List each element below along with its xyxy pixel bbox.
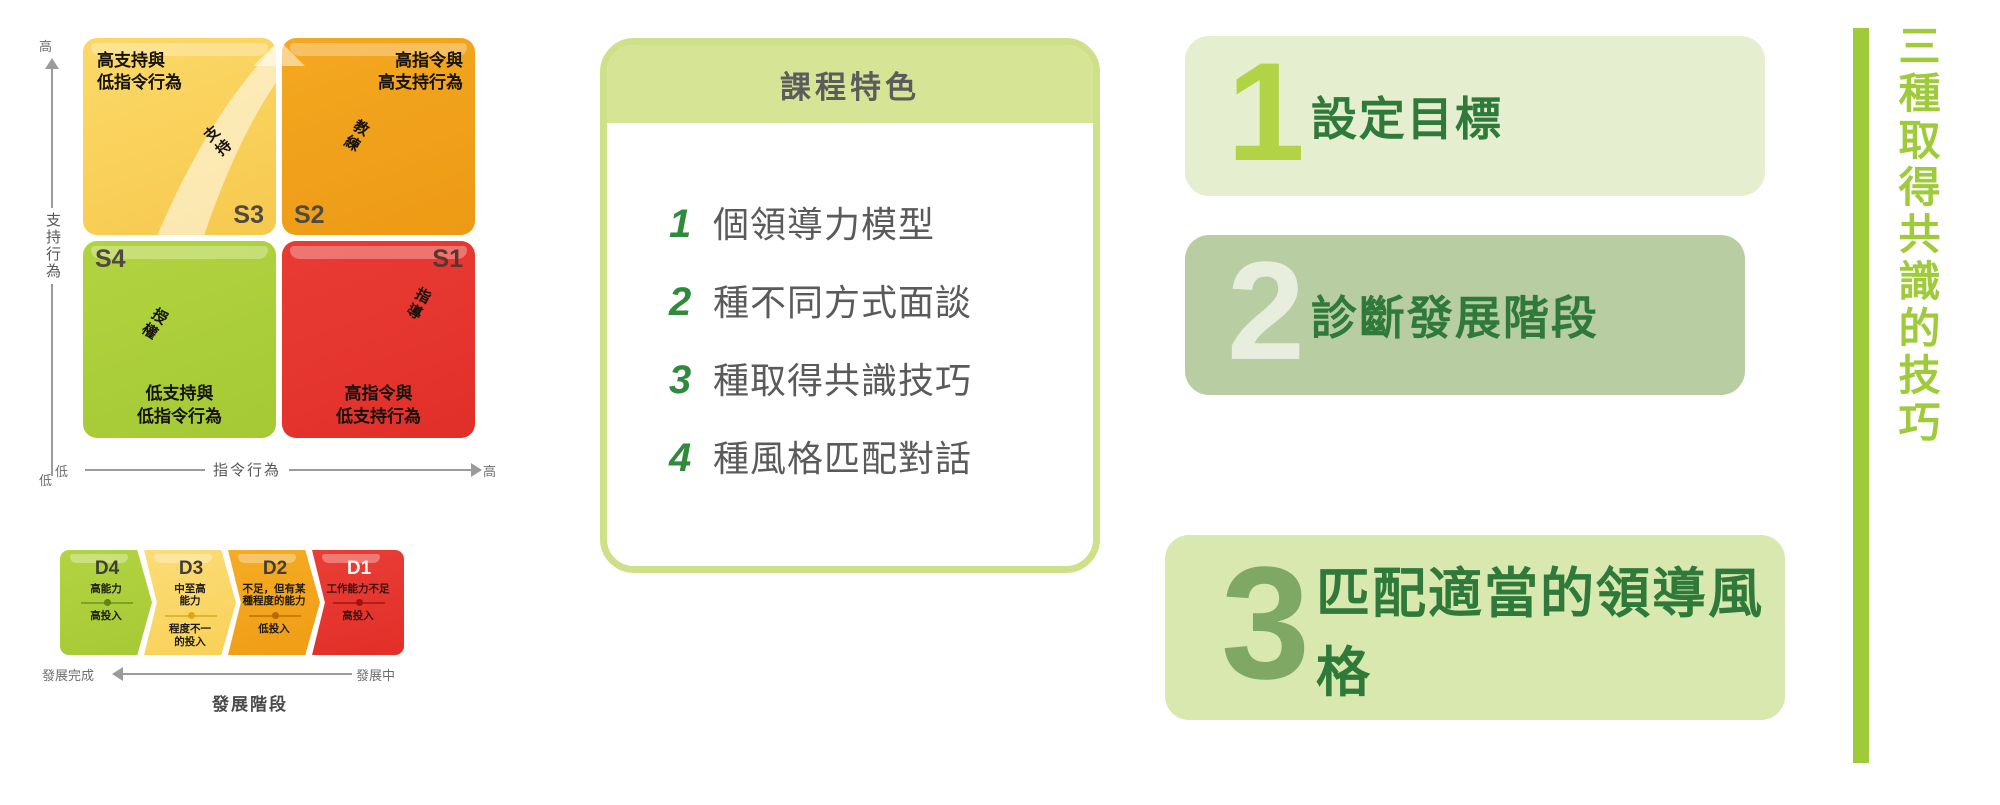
- quadrant-s1-code: S1: [432, 245, 463, 274]
- d3-competence: 中至高 能力: [170, 583, 210, 608]
- course-features-card: 課程特色 1 個領導力模型 2 種不同方式面談 3 種取得共識技巧 4 種風格匹…: [600, 38, 1100, 573]
- d4-code: D4: [95, 559, 119, 580]
- development-stage-d2[interactable]: D2 不足，但有某 種程度的能力 低投入: [228, 550, 320, 655]
- slii-matrix-panel: 高 支持行為 低 高支持與 低指令行為 S3 高指令與 高支持行為: [0, 0, 520, 805]
- feature-item-2-number: 2: [669, 280, 699, 325]
- x-axis-right-label: 高: [483, 461, 496, 480]
- feature-item-2-text: 種不同方式面談: [713, 274, 972, 326]
- x-axis-label: 指令行為: [205, 459, 289, 480]
- quadrant-s2-desc-line1: 高指令與: [378, 50, 463, 72]
- development-chart-title: 發展階段: [140, 690, 360, 715]
- vertical-headline: 三種取得共識的技巧: [1853, 28, 1998, 788]
- d3-separator-icon: [165, 611, 217, 621]
- course-features-list: 1 個領導力模型 2 種不同方式面談 3 種取得共識技巧 4 種風格匹配對話: [607, 123, 1093, 566]
- feature-item-3-text: 種取得共識技巧: [713, 352, 972, 404]
- y-axis-bottom-label: 低: [39, 470, 52, 489]
- quadrant-s2-code: S2: [294, 201, 325, 230]
- quadrant-s4-code: S4: [95, 245, 126, 274]
- feature-item-4-text: 種風格匹配對話: [713, 430, 972, 482]
- quadrant-s3[interactable]: 高支持與 低指令行為 S3: [83, 38, 276, 235]
- quadrant-s3-desc-line2: 低指令行為: [97, 72, 182, 94]
- feature-item-2: 2 種不同方式面談: [669, 274, 1093, 326]
- d2-commitment: 低投入: [255, 623, 293, 636]
- quadrant-s2-desc-line2: 高支持行為: [378, 72, 463, 94]
- y-axis-label: 支持行為: [41, 208, 64, 284]
- d4-commitment: 高投入: [87, 610, 125, 623]
- quadrant-s2[interactable]: 高指令與 高支持行為 S2: [282, 38, 475, 235]
- quadrant-s3-desc-line1: 高支持與: [97, 50, 182, 72]
- d2-competence: 不足，但有某 種程度的能力: [239, 583, 310, 608]
- feature-item-1-text: 個領導力模型: [713, 196, 935, 248]
- step-card-3[interactable]: 3 匹配適當的領導風格: [1165, 535, 1785, 720]
- d1-separator-icon: [333, 598, 385, 608]
- quadrant-s2-description: 高指令與 高支持行為: [378, 50, 463, 95]
- quadrant-s1-desc-line1: 高指令與: [282, 383, 475, 405]
- feature-item-3-number: 3: [669, 358, 699, 403]
- consensus-steps-list: 1 設定目標 2 診斷發展階段 3 匹配適當的領導風格: [1185, 30, 1825, 790]
- directive-behavior-axis: 低 指令行為 高: [55, 456, 505, 496]
- d3-code: D3: [179, 559, 203, 580]
- d4-separator-icon: [81, 598, 133, 608]
- step-card-1[interactable]: 1 設定目標: [1185, 36, 1765, 196]
- d2-code: D2: [263, 559, 287, 580]
- leadership-style-matrix: 高 支持行為 低 高支持與 低指令行為 S3 高指令與 高支持行為: [55, 38, 505, 498]
- step-2-label: 診斷發展階段: [1311, 282, 1599, 348]
- d1-competence: 工作能力不足: [323, 583, 394, 596]
- support-behavior-axis: 高 支持行為 低: [31, 38, 73, 500]
- d1-code: D1: [347, 559, 371, 580]
- quadrant-s4-description: 低支持與 低指令行為: [83, 383, 276, 428]
- d1-commitment: 高投入: [339, 610, 377, 623]
- quadrant-s4[interactable]: S4 低支持與 低指令行為: [83, 241, 276, 438]
- quadrant-s4-desc-line2: 低指令行為: [83, 406, 276, 428]
- development-stage-d1[interactable]: D1 工作能力不足 高投入: [312, 550, 404, 655]
- feature-item-4: 4 種風格匹配對話: [669, 430, 1093, 482]
- feature-item-3: 3 種取得共識技巧: [669, 352, 1093, 404]
- d3-commitment: 程度不一 的投入: [166, 623, 214, 648]
- quadrant-s4-desc-line1: 低支持與: [83, 383, 276, 405]
- development-axis-line: [122, 673, 352, 675]
- quadrant-s3-description: 高支持與 低指令行為: [97, 50, 182, 95]
- development-axis-right-label: 發展中: [356, 665, 395, 684]
- infographic-canvas: 高 支持行為 低 高支持與 低指令行為 S3 高指令與 高支持行為: [0, 0, 2000, 805]
- development-axis-left-label: 發展完成: [42, 665, 94, 684]
- vertical-headline-text: 三種取得共識的技巧: [1895, 24, 1937, 447]
- d4-competence: 高能力: [86, 583, 126, 596]
- y-axis-top-label: 高: [39, 36, 52, 55]
- step-2-number: 2: [1227, 256, 1305, 365]
- development-stage-row: D4 高能力 高投入 D3 中至高 能力 程度不一 的投入 D2 不足，但有某 …: [60, 550, 405, 655]
- course-features-title: 課程特色: [607, 45, 1093, 123]
- feature-item-4-number: 4: [669, 436, 699, 481]
- step-1-label: 設定目標: [1311, 83, 1503, 149]
- d2-separator-icon: [249, 611, 301, 621]
- axis-arrow-right-icon: [471, 463, 482, 477]
- quadrant-s1-description: 高指令與 低支持行為: [282, 383, 475, 428]
- development-axis: 發展完成 發展中: [60, 662, 460, 692]
- quadrant-s1[interactable]: S1 高指令與 低支持行為: [282, 241, 475, 438]
- x-axis-left-label: 低: [55, 461, 68, 480]
- development-stage-d4[interactable]: D4 高能力 高投入: [60, 550, 152, 655]
- step-card-2[interactable]: 2 診斷發展階段: [1185, 235, 1745, 395]
- vertical-accent-bar: [1853, 28, 1869, 763]
- development-stage-d3[interactable]: D3 中至高 能力 程度不一 的投入: [144, 550, 236, 655]
- step-3-label: 匹配適當的領導風格: [1316, 549, 1785, 707]
- quadrant-grid: 高支持與 低指令行為 S3 高指令與 高支持行為 S2 S4 低支持與: [83, 38, 475, 438]
- quadrant-s1-desc-line2: 低支持行為: [282, 406, 475, 428]
- step-3-number: 3: [1221, 561, 1310, 686]
- feature-item-1-number: 1: [669, 202, 699, 247]
- feature-item-1: 1 個領導力模型: [669, 196, 1093, 248]
- quadrant-s3-code: S3: [233, 201, 264, 230]
- development-stage-chart: D4 高能力 高投入 D3 中至高 能力 程度不一 的投入 D2 不足，但有某 …: [60, 550, 480, 740]
- step-1-number: 1: [1227, 57, 1305, 166]
